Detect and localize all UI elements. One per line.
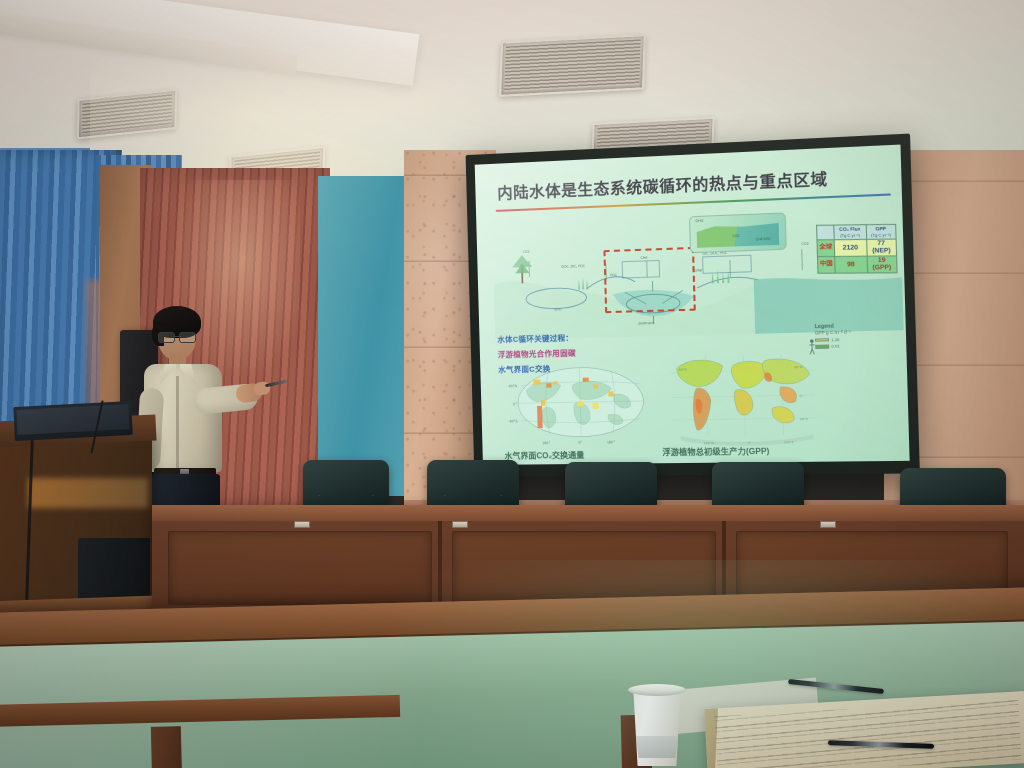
ceiling-air-vent xyxy=(499,34,646,97)
glasses-icon xyxy=(158,332,196,341)
callout-label-co2: CO2 xyxy=(732,234,739,238)
table-header-gpp: GPP (Tg C yr⁻¹) xyxy=(866,224,896,239)
slide-callout-inset: GHG CO2 CH4 N2O xyxy=(689,212,787,253)
desk-top-surface xyxy=(152,505,1024,521)
desk-front-panel xyxy=(168,531,432,605)
table-cell-global-gpp-note: (NEP) xyxy=(872,247,891,255)
svg-text:0°: 0° xyxy=(513,402,517,406)
paper-cup-sleeve xyxy=(634,736,680,758)
world-map-co2-flux: 60°N 0° 60°S 180° 0° 180° xyxy=(506,357,656,447)
callout-tag-label: GHG xyxy=(695,219,703,223)
svg-text:0°: 0° xyxy=(748,441,752,445)
table-cell-global-co2: 2120 xyxy=(834,240,866,257)
map-caption-co2: 水气界面CO₂交换通量 xyxy=(504,450,584,462)
desk-nameplate xyxy=(820,521,836,528)
table-header-co2-name: CO₂ Flux xyxy=(839,226,860,231)
confidence-monitor xyxy=(13,401,133,441)
table-leg xyxy=(151,726,183,768)
confidence-monitor-screen xyxy=(16,404,129,435)
svg-text:DOC: DOC xyxy=(554,307,562,311)
legend-value: 1.20 xyxy=(831,337,840,342)
notebook-handwriting xyxy=(715,699,1022,768)
projection-screen-surface: 内陆水体是生态系统碳循环的热点与重点区域 xyxy=(475,145,910,465)
shirt-placket xyxy=(176,376,179,468)
world-map-gpp: 60°N60°N 0°60°S 120°W0°120°E xyxy=(664,342,829,448)
legend-unit: GPP g C m⁻² d⁻¹ xyxy=(815,329,882,337)
svg-text:180°: 180° xyxy=(607,440,616,444)
table-header-gpp-name: GPP xyxy=(875,226,886,231)
paper-cup-rim xyxy=(628,684,686,696)
ceiling-air-vent xyxy=(77,89,177,140)
svg-text:60°S: 60°S xyxy=(800,417,808,421)
desk-nameplate xyxy=(452,521,468,528)
desk-nameplate xyxy=(294,521,310,528)
svg-text:180°: 180° xyxy=(542,441,551,445)
callout-label-ch4: CH4 N2O xyxy=(756,237,771,242)
table-row: 中国 98 19 (GPP) xyxy=(817,256,897,273)
table-row-label-global: 全球 xyxy=(817,240,835,257)
svg-text:0°: 0° xyxy=(578,441,582,445)
table-cell-global-gpp: 77 (NEP) xyxy=(866,239,896,256)
svg-text:Sediment: Sediment xyxy=(638,321,655,326)
svg-text:120°W: 120°W xyxy=(704,441,715,445)
svg-text:60°N: 60°N xyxy=(794,365,802,369)
projection-screen: 内陆水体是生态系统碳循环的热点与重点区域 xyxy=(466,134,920,477)
legend-value: 0.01 xyxy=(831,344,840,349)
desk-front-panel xyxy=(452,531,716,605)
svg-text:60°S: 60°S xyxy=(509,419,517,423)
presentation-slide: 内陆水体是生态系统碳循环的热点与重点区域 xyxy=(475,145,910,465)
teal-wall-panel xyxy=(318,176,414,496)
table-header-co2: CO₂ Flux (Tg C yr⁻¹) xyxy=(834,225,866,240)
glasses-bridge xyxy=(173,336,181,337)
svg-text:CO2: CO2 xyxy=(802,242,809,246)
table-cell-china-gpp: 19 (GPP) xyxy=(867,256,897,273)
svg-text:0°: 0° xyxy=(799,394,803,398)
table-corner-cell xyxy=(817,225,835,240)
svg-text:120°E: 120°E xyxy=(784,440,794,444)
svg-text:CO2: CO2 xyxy=(523,250,530,254)
svg-text:DOC, DIC, POC: DOC, DIC, POC xyxy=(561,264,586,269)
table-header-row: CO₂ Flux (Tg C yr⁻¹) GPP (Tg C yr⁻¹) xyxy=(817,224,897,240)
conference-room-scene: 内陆水体是生态系统碳循环的热点与重点区域 xyxy=(0,0,1024,768)
lectern-light-reflection xyxy=(28,478,148,508)
table-cell-china-co2: 98 xyxy=(835,257,867,274)
slide-data-table: CO₂ Flux (Tg C yr⁻¹) GPP (Tg C yr⁻¹) 全球 … xyxy=(816,224,898,274)
legend-swatch xyxy=(815,338,829,342)
table-row-label-china: 中国 xyxy=(817,257,835,274)
map-caption-gpp: 浮游植物总初级生产力(GPP) xyxy=(662,446,769,459)
svg-text:60°N: 60°N xyxy=(509,384,518,388)
bullet-line-1: 水体C循环关键过程： xyxy=(497,332,575,345)
svg-text:60°N: 60°N xyxy=(679,367,687,371)
table-header-gpp-unit: (Tg C yr⁻¹) xyxy=(871,233,891,237)
highlight-dashed-box xyxy=(603,247,695,313)
table-cell-china-gpp-note: (GPP) xyxy=(872,264,891,271)
table-header-co2-unit: (Tg C yr⁻¹) xyxy=(840,233,860,237)
table-row: 全球 2120 77 (NEP) xyxy=(817,239,897,257)
